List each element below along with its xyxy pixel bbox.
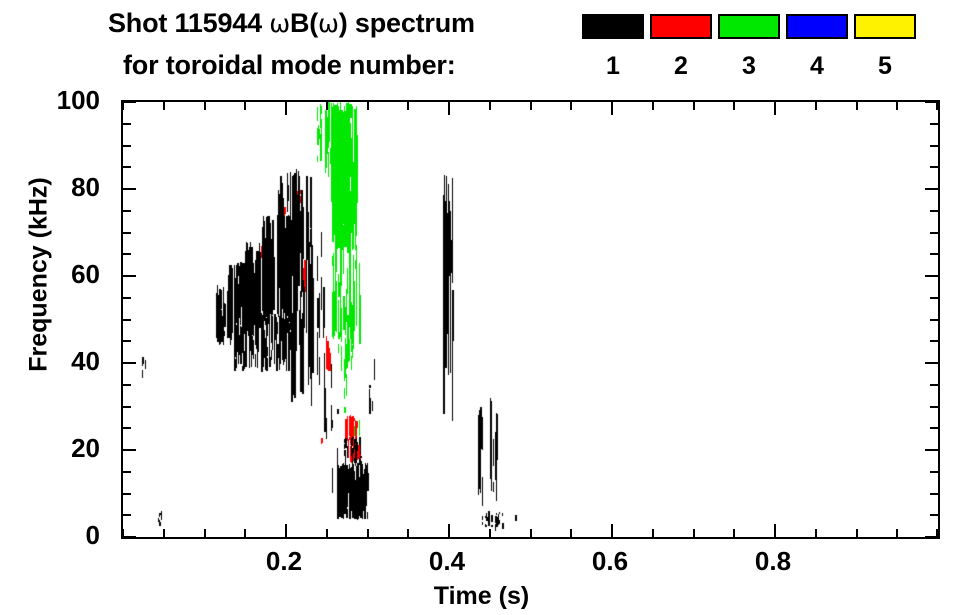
x-tick-label-0.8: 0.8 [728,548,818,574]
y-tick-5 [123,514,131,516]
x-tick-top-0.3 [367,102,369,110]
legend-label-mode-5: 5 [854,52,916,81]
spectrogram-data-canvas [123,102,938,537]
y-tick-right-65 [930,253,938,255]
x-tick-top-0.9 [856,102,858,110]
legend-label-mode-2: 2 [650,52,712,81]
y-tick-label-20: 20 [0,435,112,461]
x-tick-top-0.25 [326,102,328,110]
x-tick-0.55 [570,529,572,537]
y-tick-right-30 [930,406,938,408]
legend-swatch-mode-2 [650,14,712,39]
y-axis-label: Frequency (kHz) [25,75,54,475]
legend-swatch-mode-5 [854,14,916,39]
y-tick-10 [123,493,131,495]
y-tick-100 [123,101,136,103]
legend-label-mode-4: 4 [786,52,848,81]
x-axis-tick-labels: 0.20.40.60.8 [0,548,963,582]
x-tick-top-0.1 [204,102,206,110]
y-tick-80 [123,188,136,190]
x-tick-0.75 [733,529,735,537]
y-tick-35 [123,384,131,386]
y-tick-label-60: 60 [0,261,112,287]
y-axis-tick-labels: 020406080100 [0,100,112,535]
plot-area [121,100,940,539]
legend-swatch-mode-3 [718,14,780,39]
y-tick-right-75 [930,210,938,212]
x-tick-top-0.65 [652,102,654,110]
x-tick-top-0.55 [570,102,572,110]
x-tick-0.9 [856,529,858,537]
y-tick-45 [123,340,131,342]
y-tick-40 [123,362,136,364]
x-tick-0.95 [896,529,898,537]
x-tick-top-0.8 [774,102,776,115]
legend-label-mode-1: 1 [582,52,644,81]
x-tick-0.45 [489,529,491,537]
x-tick-top-0.05 [163,102,165,110]
y-tick-right-25 [930,427,938,429]
x-tick-top-0.4 [448,102,450,115]
y-tick-right-45 [930,340,938,342]
y-tick-right-35 [930,384,938,386]
spectrum-figure: Shot 115944 ωB(ω) spectrum for toroidal … [0,0,963,615]
x-tick-top-0.2 [285,102,287,115]
y-tick-95 [123,123,131,125]
y-tick-label-0: 0 [0,522,112,548]
x-tick-0.15 [244,529,246,537]
x-tick-top-0.5 [530,102,532,110]
x-tick-top-0.35 [407,102,409,110]
x-axis-label: Time (s) [0,582,963,611]
legend: 12345 [0,0,963,90]
y-tick-75 [123,210,131,212]
x-tick-0.2 [285,524,287,537]
x-tick-top-0.7 [693,102,695,110]
x-tick-top-0.45 [489,102,491,110]
legend-swatch-mode-1 [582,14,644,39]
x-tick-label-0.6: 0.6 [565,548,655,574]
y-tick-70 [123,232,131,234]
y-tick-label-80: 80 [0,174,112,200]
y-tick-right-60 [925,275,938,277]
y-tick-right-90 [930,145,938,147]
y-tick-right-85 [930,166,938,168]
x-tick-0.35 [407,529,409,537]
y-tick-right-10 [930,493,938,495]
x-tick-top-0 [122,102,124,110]
x-tick-0.05 [163,529,165,537]
y-tick-20 [123,449,136,451]
y-tick-0 [123,536,136,538]
y-tick-65 [123,253,131,255]
x-tick-0 [122,529,124,537]
y-tick-55 [123,297,131,299]
x-tick-top-0.85 [815,102,817,110]
y-tick-right-95 [930,123,938,125]
y-tick-60 [123,275,136,277]
y-tick-label-40: 40 [0,348,112,374]
y-tick-90 [123,145,131,147]
y-tick-30 [123,406,131,408]
y-tick-right-50 [930,319,938,321]
x-tick-1 [936,529,938,537]
y-tick-right-70 [930,232,938,234]
x-tick-0.85 [815,529,817,537]
y-tick-right-5 [930,514,938,516]
x-tick-0.7 [693,529,695,537]
y-tick-right-80 [925,188,938,190]
x-tick-label-0.2: 0.2 [239,548,329,574]
y-tick-15 [123,471,131,473]
legend-swatch-mode-4 [786,14,848,39]
x-tick-label-0.4: 0.4 [402,548,492,574]
y-tick-right-55 [930,297,938,299]
x-tick-top-0.15 [244,102,246,110]
y-tick-50 [123,319,131,321]
x-tick-0.25 [326,529,328,537]
x-tick-0.3 [367,529,369,537]
x-tick-0.8 [774,524,776,537]
y-tick-85 [123,166,131,168]
x-tick-top-0.75 [733,102,735,110]
legend-label-mode-3: 3 [718,52,780,81]
y-tick-right-40 [925,362,938,364]
x-tick-0.1 [204,529,206,537]
x-tick-0.65 [652,529,654,537]
x-tick-0.5 [530,529,532,537]
x-tick-top-0.6 [611,102,613,115]
x-tick-0.6 [611,524,613,537]
y-tick-25 [123,427,131,429]
y-tick-right-15 [930,471,938,473]
y-tick-label-100: 100 [0,87,112,113]
x-tick-top-0.95 [896,102,898,110]
y-tick-right-20 [925,449,938,451]
x-tick-0.4 [448,524,450,537]
x-tick-top-1 [936,102,938,110]
